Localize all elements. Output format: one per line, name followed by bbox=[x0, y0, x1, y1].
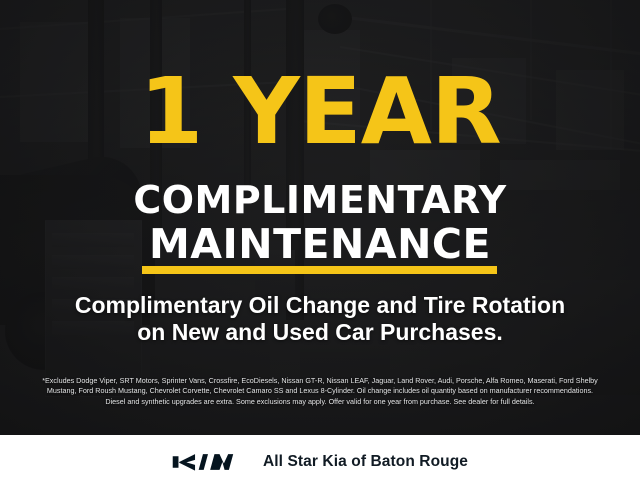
disclaimer-line-2: Mustang, Ford Roush Mustang, Chevrolet C… bbox=[14, 386, 626, 396]
yellow-divider bbox=[142, 266, 497, 274]
headline-maintenance: MAINTENANCE bbox=[0, 220, 640, 268]
footer-bar: All Star Kia of Baton Rouge bbox=[0, 435, 640, 488]
headline-complimentary: COMPLIMENTARY bbox=[0, 178, 640, 222]
footer-brand-group: All Star Kia of Baton Rouge bbox=[172, 451, 468, 473]
promo-text-line-1: Complimentary Oil Change and Tire Rotati… bbox=[0, 291, 640, 319]
disclaimer-text: *Excludes Dodge Viper, SRT Motors, Sprin… bbox=[14, 376, 626, 407]
disclaimer-line-3: Diesel and synthetic upgrades are extra.… bbox=[14, 397, 626, 407]
disclaimer-line-1: *Excludes Dodge Viper, SRT Motors, Sprin… bbox=[14, 376, 626, 386]
promotional-banner: 1 YEAR COMPLIMENTARY MAINTENANCE Complim… bbox=[0, 0, 640, 488]
headline-year: 1 YEAR bbox=[0, 70, 640, 155]
dealer-name: All Star Kia of Baton Rouge bbox=[263, 453, 468, 471]
banner-content: 1 YEAR COMPLIMENTARY MAINTENANCE Complim… bbox=[0, 0, 640, 435]
kia-logo bbox=[172, 451, 244, 473]
promo-text-line-2: on New and Used Car Purchases. bbox=[0, 318, 640, 346]
